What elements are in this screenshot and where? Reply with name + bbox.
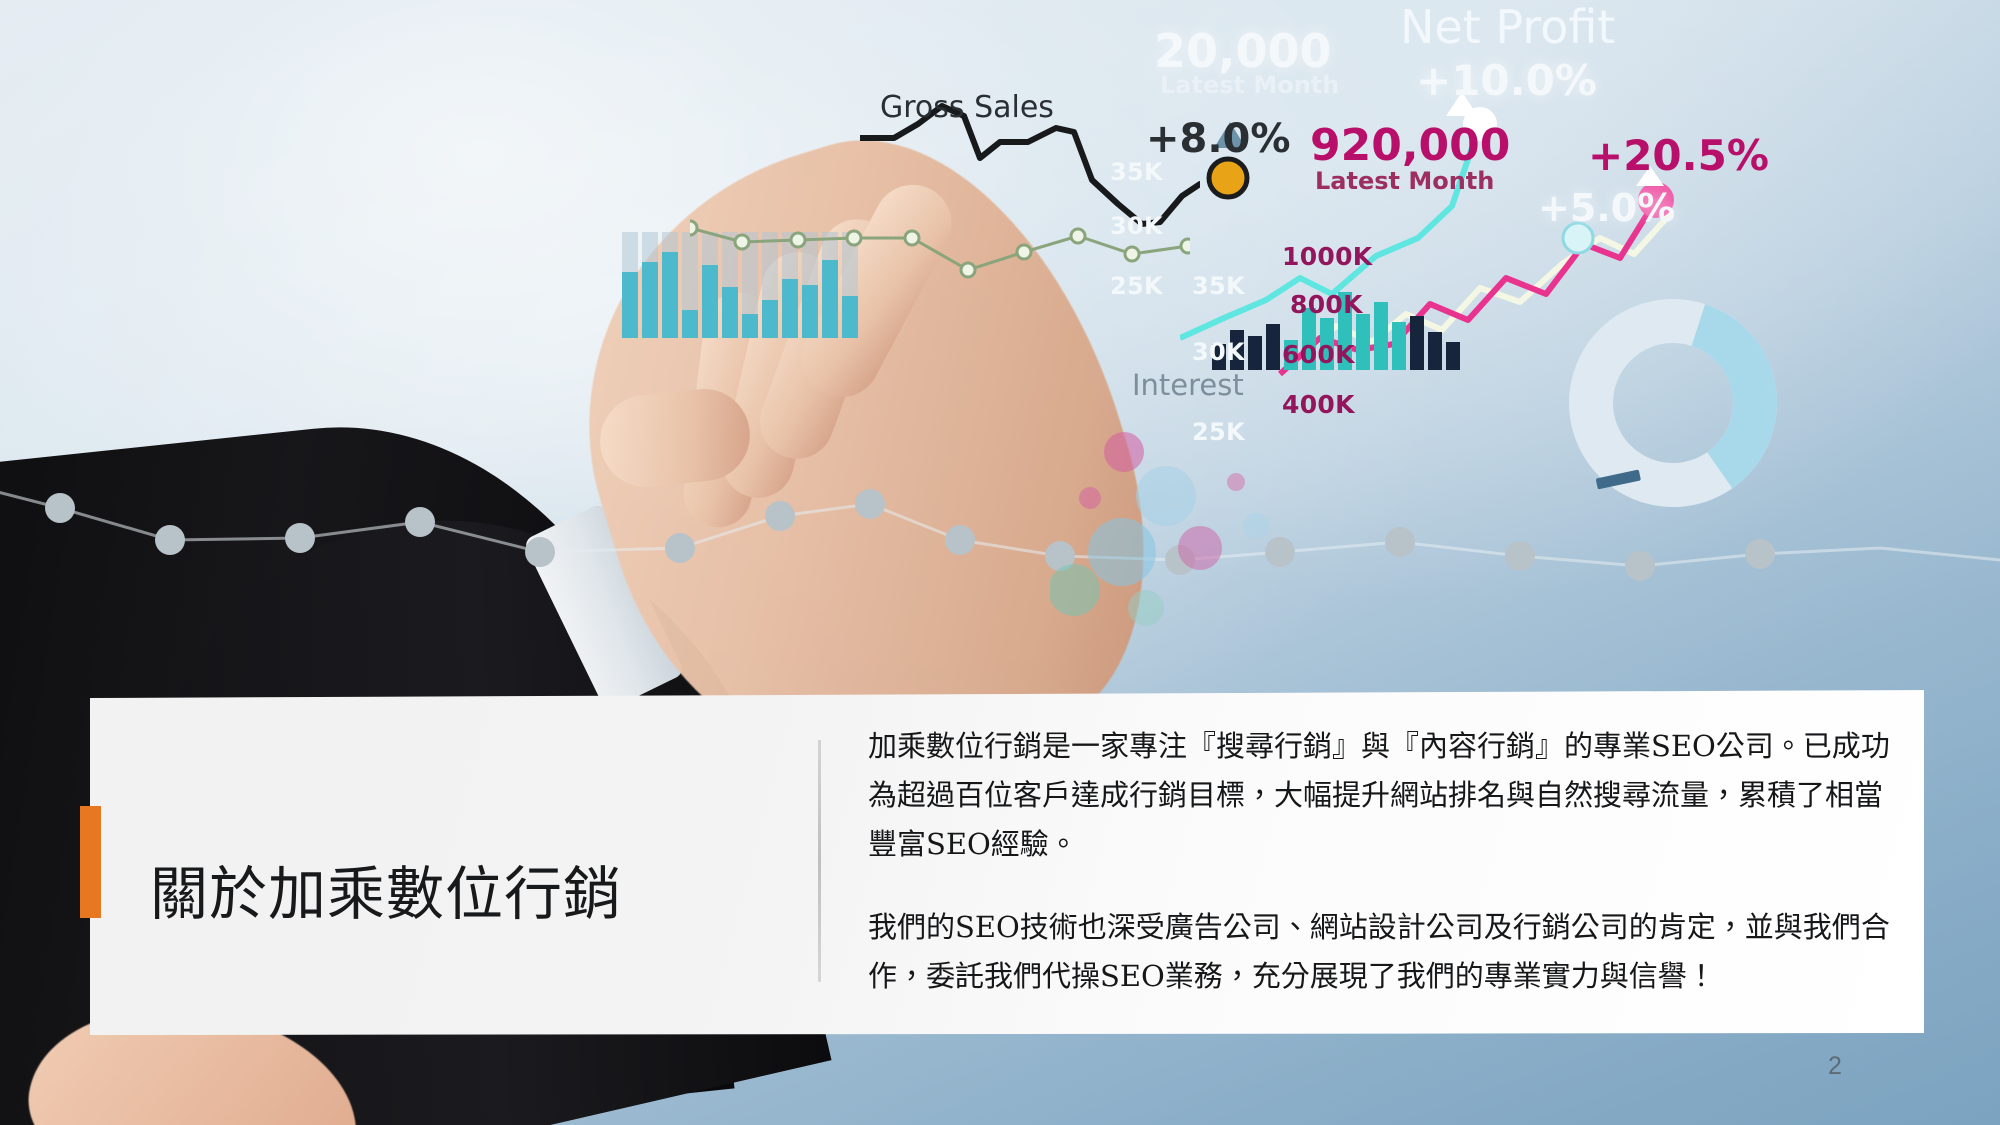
chart-value-920000: 920,000	[1310, 120, 1510, 171]
body-paragraph-2: 我們的SEO技術也深受廣告公司、網站設計公司及行銷公司的肯定，並與我們合作，委託…	[868, 903, 1896, 1001]
vertical-divider	[818, 740, 821, 982]
axis-tick-30k-b: 30K	[1192, 338, 1245, 366]
axis-tick-35k-b: 35K	[1192, 272, 1245, 300]
axis-tick-400k: 400K	[1282, 390, 1355, 419]
page-number: 2	[1828, 1052, 1842, 1081]
chart-value-20000: 20,000	[1154, 24, 1332, 78]
axis-tick-25k-b: 25K	[1192, 418, 1245, 446]
axis-tick-600k: 600K	[1282, 340, 1355, 369]
page-title: 關於加乘數位行銷	[150, 829, 750, 949]
chart-pct-8: +8.0%	[1146, 116, 1290, 162]
line-chart-green-nodes	[690, 180, 1190, 360]
axis-tick-1000k: 1000K	[1282, 242, 1372, 271]
chart-label-gross-sales: Gross Sales	[880, 90, 1054, 125]
chart-pct-205: +20.5%	[1588, 131, 1769, 180]
chart-caption-latest-month-1: Latest Month	[1160, 71, 1339, 99]
bubble-cluster	[1050, 430, 1470, 640]
axis-label-interest: Interest	[1132, 368, 1244, 402]
chart-label-net-profit: Net Profit	[1400, 0, 1615, 54]
donut-chart	[1558, 288, 1788, 518]
slide-root: Gross Sales 20,000 Latest Month +8.0% Ne…	[0, 0, 2000, 1125]
body-text: 加乘數位行銷是一家專注『搜尋行銷』與『內容行銷』的專業SEO公司。已成功為超過百…	[868, 722, 1896, 1001]
axis-tick-25k-a: 25K	[1110, 272, 1163, 300]
accent-bar	[80, 806, 101, 918]
axis-tick-30k-a: 30K	[1110, 212, 1163, 240]
body-paragraph-1: 加乘數位行銷是一家專注『搜尋行銷』與『內容行銷』的專業SEO公司。已成功為超過百…	[868, 722, 1896, 869]
chart-pct-10: +10.0%	[1416, 56, 1597, 105]
chart-caption-latest-month-2: Latest Month	[1315, 167, 1494, 195]
axis-tick-800k: 800K	[1290, 290, 1363, 319]
axis-tick-35k-a: 35K	[1110, 158, 1163, 186]
chart-pct-5: +5.0%	[1538, 186, 1675, 230]
